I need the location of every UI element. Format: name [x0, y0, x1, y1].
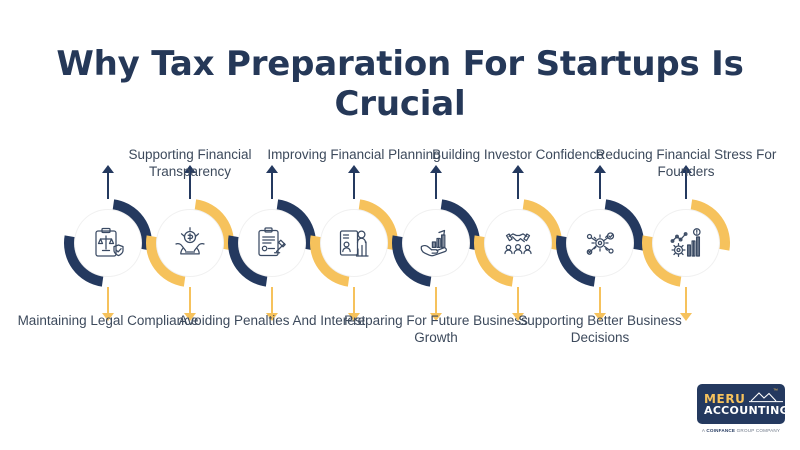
process-step-node-3[interactable] — [226, 197, 318, 289]
hand-growth-bars-icon — [403, 210, 469, 276]
logo-tagline-suffix: GROUP COMPANY — [735, 428, 780, 433]
clipboard-gavel-icon — [239, 210, 305, 276]
hands-holding-coin-icon — [157, 210, 223, 276]
process-step-node-1[interactable] — [62, 197, 154, 289]
step-label-1: Maintaining Legal Compliance — [13, 312, 203, 329]
connector-stem-down-7 — [599, 287, 601, 313]
process-diagram: Maintaining Legal Compliance Supporting … — [0, 0, 800, 450]
step-label-2: Supporting Financial Transparency — [95, 146, 285, 180]
clipboard-scales-shield-icon — [75, 210, 141, 276]
person-bar-chart-icon — [321, 210, 387, 276]
arrow-down-icon-8 — [680, 313, 692, 321]
arrow-up-icon-6 — [512, 165, 524, 173]
process-step-node-8[interactable] — [640, 197, 732, 289]
logo-name-secondary: ACCOUNTING — [704, 404, 785, 417]
connector-stem-down-1 — [107, 287, 109, 313]
process-step-node-2[interactable] — [144, 197, 236, 289]
connector-stem-down-2 — [189, 287, 191, 313]
step-label-5: Preparing For Future Business Growth — [341, 312, 531, 346]
connector-stem-down-4 — [353, 287, 355, 313]
process-step-node-4[interactable] — [308, 197, 400, 289]
step-label-8: Reducing Financial Stress For Founders — [591, 146, 781, 180]
network-gear-check-icon — [567, 210, 633, 276]
connector-stem-down-3 — [271, 287, 273, 313]
trademark-icon: ™ — [773, 388, 778, 394]
connector-stem-up-3 — [271, 173, 273, 199]
arrow-up-icon-3 — [266, 165, 278, 173]
connector-stem-down-5 — [435, 287, 437, 313]
step-label-6: Building Investor Confidence — [423, 146, 613, 163]
meru-accounting-logo: MERU ™ ACCOUNTING — [697, 384, 785, 424]
connector-stem-up-6 — [517, 173, 519, 199]
connector-stem-up-5 — [435, 173, 437, 199]
chart-gear-alert-icon — [653, 210, 719, 276]
logo-tagline: A COINFANCE GROUP COMPANY — [697, 428, 785, 433]
step-label-4: Improving Financial Planning — [259, 146, 449, 163]
connector-stem-up-4 — [353, 173, 355, 199]
slide-root: Why Tax Preparation For Startups Is Cruc… — [0, 0, 800, 450]
connector-stem-down-6 — [517, 287, 519, 313]
arrow-up-icon-4 — [348, 165, 360, 173]
step-label-3: Avoiding Penalties And Interest — [177, 312, 367, 329]
process-step-node-5[interactable] — [390, 197, 482, 289]
process-step-node-6[interactable] — [472, 197, 564, 289]
connector-stem-down-8 — [685, 287, 687, 313]
handshake-team-icon — [485, 210, 551, 276]
step-label-7: Supporting Better Business Decisions — [505, 312, 695, 346]
logo-tagline-brand: COINFANCE — [706, 428, 735, 433]
process-step-node-7[interactable] — [554, 197, 646, 289]
arrow-up-icon-5 — [430, 165, 442, 173]
